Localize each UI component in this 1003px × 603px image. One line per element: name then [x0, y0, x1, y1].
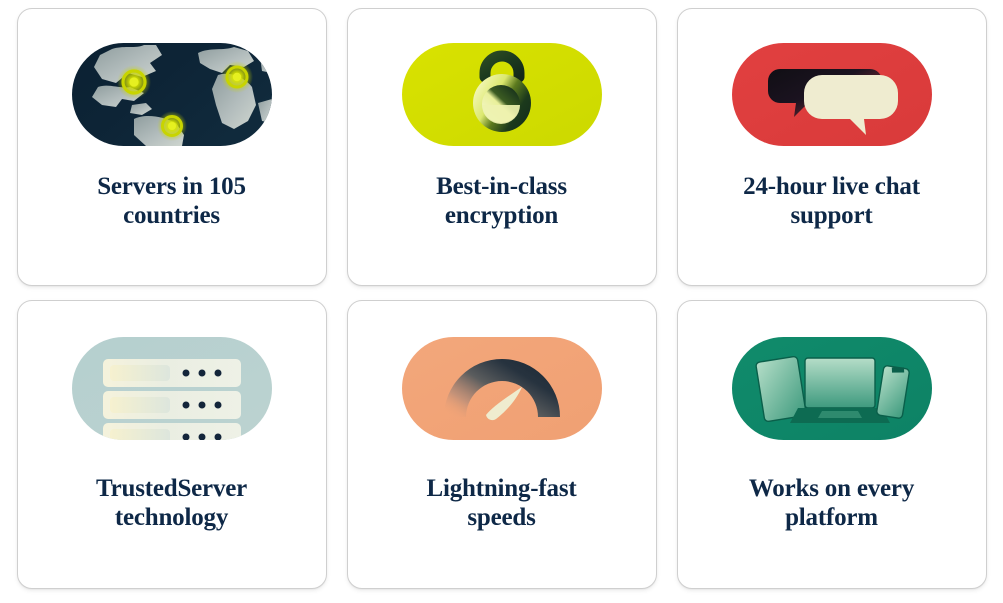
caption-line-1: Works on every — [749, 475, 914, 502]
caption-line-1: 24-hour live chat — [743, 173, 920, 200]
padlock-svg — [402, 43, 602, 146]
server-rack-svg — [72, 337, 272, 440]
feature-card-caption: Servers in 105 countries — [54, 172, 289, 230]
feature-card-best-in-class-encryption[interactable]: Best-in-class encryption — [347, 8, 657, 286]
server-pin-north-america — [117, 65, 151, 99]
feature-card-trustedserver-technology[interactable]: TrustedServer technology — [17, 300, 327, 589]
feature-card-caption: 24-hour live chat support — [714, 172, 949, 230]
caption-line-2: support — [791, 202, 873, 229]
feature-card-works-on-every-platform[interactable]: Works on every platform — [677, 300, 987, 589]
feature-card-24-hour-live-chat-support[interactable]: 24-hour live chat support — [677, 8, 987, 286]
server-pin-europe — [221, 61, 253, 93]
feature-card-lightning-fast-speeds[interactable]: Lightning-fast speeds — [347, 300, 657, 589]
globe-with-server-pins-icon — [72, 43, 272, 146]
caption-line-1: Lightning-fast — [426, 475, 576, 502]
caption-line-2: technology — [115, 504, 228, 531]
rack-unit — [103, 391, 241, 419]
multi-device-svg — [732, 337, 932, 440]
padlock-icon — [402, 43, 602, 146]
caption-line-2: countries — [123, 202, 220, 229]
caption-line-1: Best-in-class — [436, 173, 567, 200]
server-rack-icon — [72, 337, 272, 440]
globe-svg — [72, 43, 272, 146]
caption-line-2: encryption — [445, 202, 558, 229]
feature-card-grid: Servers in 105 countries — [0, 0, 1003, 603]
rack-unit — [103, 423, 241, 440]
laptop-device — [790, 358, 890, 423]
chat-bubbles-svg — [732, 43, 932, 146]
multi-device-icon — [732, 337, 932, 440]
chat-bubbles-icon — [732, 43, 932, 146]
feature-card-caption: Lightning-fast speeds — [384, 474, 619, 532]
caption-line-2: platform — [785, 504, 878, 531]
rack-unit — [103, 359, 241, 387]
caption-line-1: Servers in 105 — [97, 173, 246, 200]
speedometer-icon — [402, 337, 602, 440]
caption-line-1: TrustedServer — [96, 475, 247, 502]
feature-card-caption: Works on every platform — [714, 474, 949, 532]
rack-units — [103, 359, 241, 440]
speedometer-svg — [402, 337, 602, 440]
caption-line-2: speeds — [467, 504, 535, 531]
server-pin-south-america — [157, 111, 187, 141]
feature-card-servers-in-105-countries[interactable]: Servers in 105 countries — [17, 8, 327, 286]
feature-card-caption: TrustedServer technology — [54, 474, 289, 532]
feature-card-caption: Best-in-class encryption — [384, 172, 619, 230]
